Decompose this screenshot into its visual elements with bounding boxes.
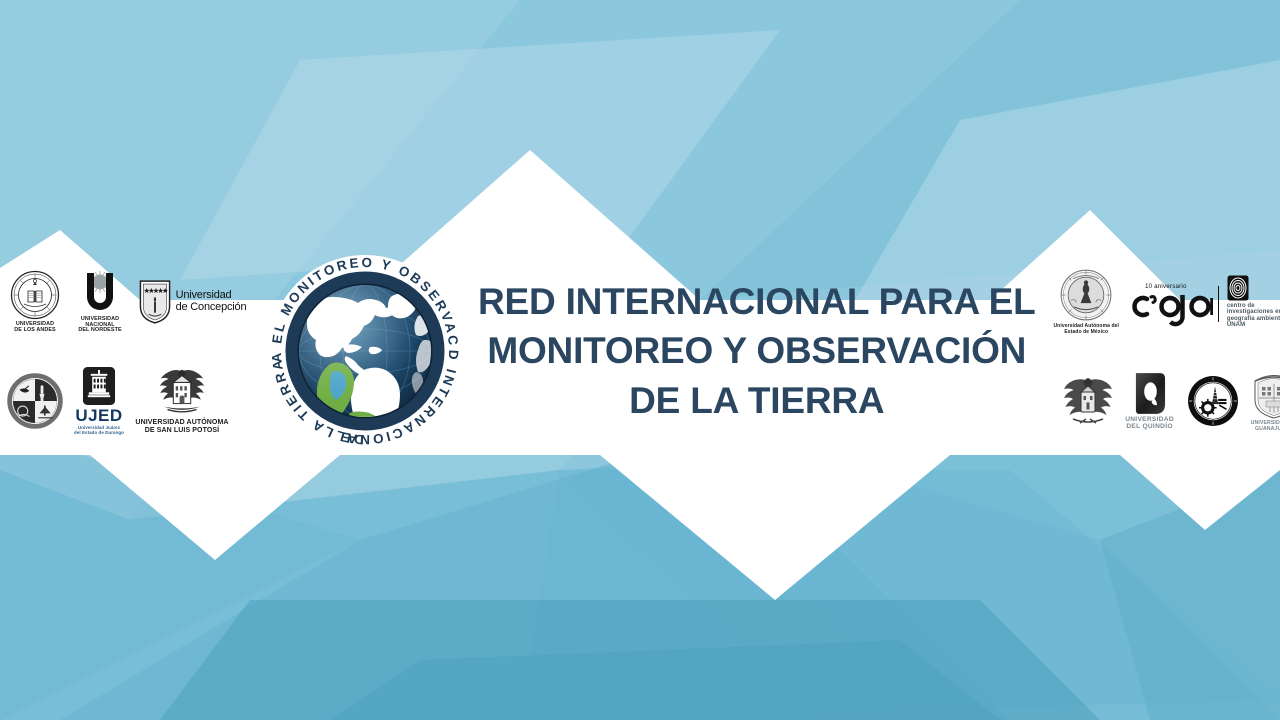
page-title: RED INTERNACIONAL PARA EL MONITOREO Y OB… bbox=[474, 277, 1044, 426]
logo-universidad-del-quindio: UNIVERSIDAD DEL QUINDÍO bbox=[1120, 371, 1180, 431]
logo-caption: UNIVERSIDAD DEL QUINDÍO bbox=[1125, 417, 1174, 431]
logo-universidad-pedagogica-experimental bbox=[4, 373, 66, 429]
unne-u-icon bbox=[80, 269, 120, 315]
title-line-1: RED INTERNACIONAL PARA EL bbox=[478, 277, 1036, 327]
ujed-building-icon bbox=[82, 366, 116, 406]
logo-caption: UNIVERSIDAD DE GUANAJUATO bbox=[1251, 421, 1280, 432]
emblem-globe: PARA EL MONITOREO Y OBSERVACIÓN RED INTE… bbox=[258, 244, 472, 458]
logo-universidad-autonoma-de-san-luis-potosi: UNIVERSIDAD AUTÓNOMA DE SAN LUIS POTOSÍ bbox=[132, 367, 232, 434]
banner-content: UNIVERSIDAD DE LOS ANDES UNIVERSIDAD NAC… bbox=[0, 246, 1280, 456]
logo-cluster-right: Universidad Autónoma del Estado de Méxic… bbox=[1044, 254, 1280, 448]
logo-caption: UNIVERSIDAD DE LOS ANDES bbox=[14, 322, 55, 333]
logo-wordmark: UJED bbox=[75, 407, 122, 425]
globe-emblem-icon: PARA EL MONITOREO Y OBSERVACIÓN RED INTE… bbox=[258, 244, 472, 458]
condor-crest-icon bbox=[1063, 375, 1113, 427]
concepcion-shield-icon bbox=[138, 279, 172, 325]
logo-caption: centro de investigaciones en geografía a… bbox=[1227, 303, 1280, 328]
banner: UNIVERSIDAD DE LOS ANDES UNIVERSIDAD NAC… bbox=[0, 0, 1280, 720]
logo-instituto-tecnologico-de-oaxaca bbox=[1186, 375, 1240, 427]
logo-row-right-bottom: UNIVERSIDAD DEL QUINDÍO bbox=[1048, 353, 1280, 448]
logo-universidad-nacional-del-nordeste: UNIVERSIDAD NACIONAL DEL NORDESTE bbox=[72, 269, 128, 334]
uaslp-eagle-crest-icon bbox=[153, 367, 211, 417]
title-line-3: DE LA TIERRA bbox=[478, 376, 1036, 426]
logo-caption: Universidad de Concepción bbox=[176, 290, 247, 313]
logo-cluster-left: UNIVERSIDAD DE LOS ANDES UNIVERSIDAD NAC… bbox=[0, 254, 254, 448]
guanajuato-shield-icon bbox=[1251, 369, 1280, 419]
ciga-wordmark-icon bbox=[1131, 288, 1213, 328]
logo-caption: Universidad Autónoma del Estado de Méxic… bbox=[1053, 324, 1119, 334]
logo-subcaption: Universidad Juárez del Estado de Durango bbox=[74, 426, 124, 435]
logo-row-left-bottom: UJED Universidad Juárez del Estado de Du… bbox=[4, 353, 250, 448]
logo-ujed: UJED Universidad Juárez del Estado de Du… bbox=[72, 366, 126, 436]
uaem-round-seal-icon bbox=[1059, 268, 1113, 322]
logo-row-right-top: Universidad Autónoma del Estado de Méxic… bbox=[1048, 254, 1280, 349]
logo-universidad-de-guanajuato: UNIVERSIDAD DE GUANAJUATO bbox=[1246, 369, 1280, 432]
black-circle-seal-icon bbox=[1187, 375, 1239, 427]
logo-universidad-de-los-andes: UNIVERSIDAD DE LOS ANDES bbox=[4, 270, 66, 333]
ciga-divider bbox=[1218, 286, 1219, 322]
logo-universidad-autonoma-del-estado-de-mexico: Universidad Autónoma del Estado de Méxic… bbox=[1048, 268, 1125, 334]
quindio-mark-icon bbox=[1133, 371, 1167, 415]
title-line-2: MONITOREO Y OBSERVACIÓN bbox=[478, 326, 1036, 376]
fingerprint-icon bbox=[1227, 275, 1249, 301]
logo-universidad-distrital bbox=[1062, 375, 1114, 427]
logo-ciga-unam: 10 aniversario bbox=[1131, 275, 1280, 328]
quad-seal-icon bbox=[7, 373, 63, 429]
logo-caption: UNIVERSIDAD AUTÓNOMA DE SAN LUIS POTOSÍ bbox=[135, 419, 228, 434]
logo-caption: UNIVERSIDAD NACIONAL DEL NORDESTE bbox=[78, 317, 121, 334]
los-andes-seal-icon bbox=[10, 270, 60, 320]
logo-universidad-de-concepcion: Universidad de Concepción bbox=[134, 279, 250, 325]
logo-row-left-top: UNIVERSIDAD DE LOS ANDES UNIVERSIDAD NAC… bbox=[4, 254, 250, 349]
